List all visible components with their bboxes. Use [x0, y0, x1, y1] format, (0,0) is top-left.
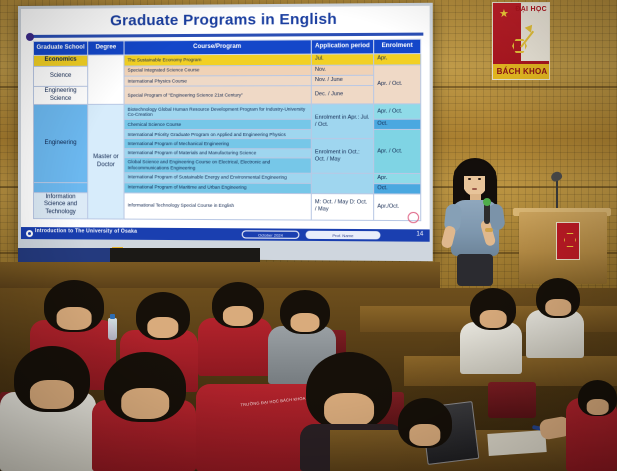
column-header-application-period: Application period: [311, 40, 373, 54]
presenter: [441, 158, 513, 286]
audience-member-head: [280, 290, 330, 334]
graduate-programs-table: Graduate School Degree Course/Program Ap…: [33, 39, 421, 221]
lecture-hall-photo: ★ ĐẠI HỌC BÁCH KHOA Graduate Programs in…: [0, 0, 617, 471]
page-number: 14: [416, 231, 423, 237]
table-row: Engineering Master or Doctor Biotechnolo…: [33, 104, 420, 120]
audience-member-head: [14, 346, 90, 412]
cell-course: International Priority Graduate Program …: [124, 130, 311, 139]
cell-application-period: Nov. / June: [311, 75, 373, 86]
column-header-enrolment: Enrolment: [374, 39, 421, 53]
audience-member-head: [212, 282, 264, 328]
cell-course: Chemical Science Course: [124, 120, 311, 130]
slide: Graduate Programs in English Graduate Sc…: [21, 6, 430, 242]
cell-course: Global Science and Engineering Course on…: [124, 157, 311, 172]
slide-footer: Introduction to The University of Osaka …: [21, 227, 430, 242]
podium-logo-plaque: [556, 222, 580, 260]
cell-course: Special Program of "Engineering Science …: [124, 86, 311, 105]
cell-application-period: Enrolment in Apr.: Jul. / Oct.: [311, 104, 373, 139]
presenter-eye: [468, 178, 471, 180]
cell-graduate-school: Information Science and Technology: [33, 192, 87, 218]
water-bottle: [108, 318, 117, 340]
cell-enrolment: Oct.: [374, 183, 421, 194]
projection-screen: Graduate Programs in English Graduate Sc…: [18, 3, 433, 261]
microphone-head-icon: [483, 198, 491, 206]
cell-application-period: Enrolment in Oct.: Oct. / May: [311, 139, 373, 173]
footer-pill-presenter: Prof. Name: [306, 231, 381, 240]
cell-graduate-school: Science: [33, 66, 87, 86]
cell-course: Biotechnology Global Human Resource Deve…: [124, 104, 311, 119]
presenter-watch: [485, 228, 493, 232]
cell-course: International Program of Sustainable Ene…: [124, 172, 311, 183]
cell-enrolment: Apr. / Oct.: [374, 104, 421, 119]
chair: [488, 382, 536, 418]
cell-application-period: [311, 173, 373, 194]
audience-member-head: [536, 278, 580, 318]
audience-member-head: [398, 398, 452, 448]
annotation-circle-icon: [408, 212, 420, 223]
cell-enrolment: Apr.: [374, 173, 421, 183]
presenter-mouth: [472, 188, 477, 190]
cell-graduate-school: Engineering Science: [33, 86, 87, 105]
cell-course: Informational Technology Special Course …: [124, 193, 311, 220]
title-bullet-icon: [26, 33, 34, 41]
audience-member-head: [470, 288, 516, 330]
av-control-strip: [18, 248, 110, 262]
cell-enrolment: Apr.: [374, 53, 421, 64]
cell-application-period: Nov.: [311, 65, 373, 76]
cell-enrolment: Oct.: [374, 119, 421, 129]
papers: [487, 430, 546, 456]
banner-bottom-line: BÁCH KHOA: [493, 64, 550, 79]
audience-member-head: [104, 352, 186, 422]
cell-course: International Program of Mechanical Engi…: [124, 139, 311, 148]
cell-application-period: Jul.: [311, 54, 373, 65]
audience-member-head: [578, 380, 617, 416]
cell-enrolment: Apr. / Oct.: [374, 65, 421, 105]
banner-top-line: ĐẠI HỌC: [515, 6, 547, 13]
osaka-logo-icon: [26, 230, 33, 237]
footer-pill-date: October 2024: [242, 230, 300, 238]
cell-application-period: M: Oct. / May D: Oct. / May: [311, 193, 373, 220]
audience-member-head: [44, 280, 104, 332]
cell-degree: Master or Doctor: [88, 105, 124, 219]
cell-course: International Program of Materials and M…: [124, 148, 311, 157]
university-banner: ★ ĐẠI HỌC BÁCH KHOA: [492, 2, 550, 80]
cell-course: International Program of Maritime and Ur…: [124, 182, 311, 193]
title-divider: [29, 33, 423, 38]
cell-application-period: Dec. / June: [311, 86, 373, 105]
cell-graduate-school: Economics: [33, 55, 87, 66]
presenter-eye: [478, 178, 481, 180]
cell-enrolment: Apr. / Oct.: [374, 130, 421, 173]
cell-course: International Physics Course: [124, 75, 311, 86]
cell-graduate-school: [33, 182, 87, 192]
page-title: Graduate Programs in English: [21, 10, 430, 30]
cell-course: The Sustainable Economy Program: [124, 54, 311, 66]
audience-member-head: [136, 292, 190, 340]
column-header-course-program: Course/Program: [124, 40, 311, 55]
cell-degree: [88, 55, 124, 105]
podium-mic-stand: [556, 178, 558, 210]
banner-emblem-icon: [507, 23, 537, 57]
cell-graduate-school: Engineering: [33, 105, 87, 183]
footer-label: Introduction to The University of Osaka: [35, 228, 137, 235]
presenter-pants: [457, 254, 493, 286]
star-icon: ★: [499, 9, 509, 20]
column-header-graduate-school: Graduate School: [33, 41, 87, 55]
column-header-degree: Degree: [88, 41, 124, 55]
cell-course: Special Integrated Science Course: [124, 65, 311, 76]
audience-member-head: [306, 352, 392, 430]
